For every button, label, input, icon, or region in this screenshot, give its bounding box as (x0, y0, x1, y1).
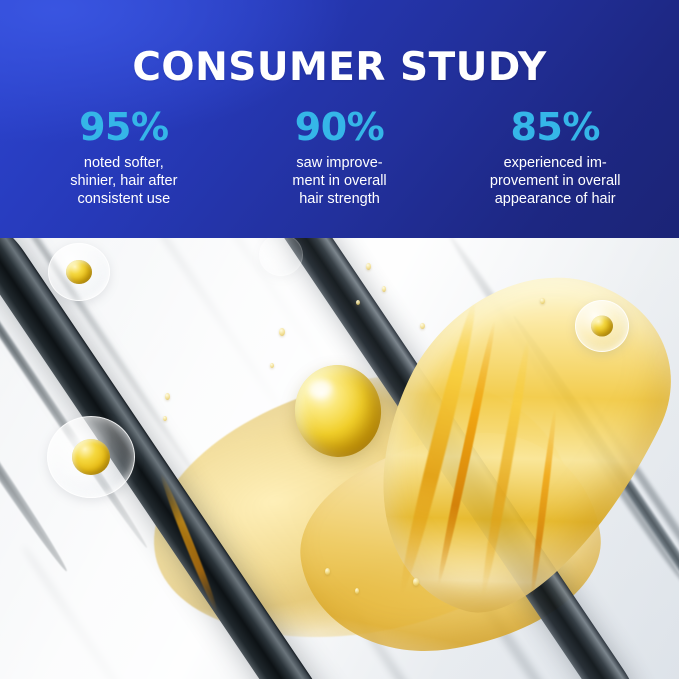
stat-description-3: experienced im- provement in overall app… (451, 154, 659, 208)
capsule-core (66, 260, 92, 284)
capsule-core (72, 439, 110, 475)
hair-strand-bg-4 (0, 391, 18, 679)
splash-droplet-3 (356, 300, 360, 305)
splash-droplet-6 (165, 393, 170, 400)
splash-droplet-12 (413, 578, 419, 586)
splash-droplet-11 (355, 588, 359, 594)
splash-droplet-7 (163, 416, 167, 421)
splash-droplet-10 (325, 568, 330, 575)
splash-droplet-4 (279, 328, 285, 336)
consumer-study-ad-creative: CONSUMER STUDY 95% noted softer, shinier… (0, 0, 679, 679)
stat-description-1: noted softer, shinier, hair after consis… (20, 154, 228, 208)
stat-column-1: 95% noted softer, shinier, hair after co… (16, 106, 232, 208)
oil-capsule-bubble-faint-top (259, 238, 303, 276)
stat-value-1: 95% (20, 106, 228, 148)
stat-description-2: saw improve- ment in overall hair streng… (236, 154, 444, 208)
splash-droplet-1 (366, 263, 371, 270)
stat-value-3: 85% (451, 106, 659, 148)
oil-capsule-bubble-right (575, 300, 629, 352)
consumer-study-banner: CONSUMER STUDY 95% noted softer, shinier… (0, 0, 679, 239)
splash-droplet-9 (420, 323, 425, 329)
stat-column-3: 85% experienced im- provement in overall… (447, 106, 663, 208)
stat-column-2: 90% saw improve- ment in overall hair st… (232, 106, 448, 208)
hair-oil-product-photo: A total of 100 men completed 120 days of… (0, 238, 679, 679)
stat-value-2: 90% (236, 106, 444, 148)
capsule-core (591, 316, 613, 337)
splash-droplet-5 (270, 363, 274, 368)
oil-capsule-bubble-top-left (48, 243, 110, 301)
page-title: CONSUMER STUDY (0, 46, 679, 90)
splash-droplet-2 (382, 286, 386, 292)
splash-droplet-8 (540, 298, 545, 304)
stats-row: 95% noted softer, shinier, hair after co… (16, 106, 663, 208)
oil-capsule-bubble-left (47, 416, 135, 498)
